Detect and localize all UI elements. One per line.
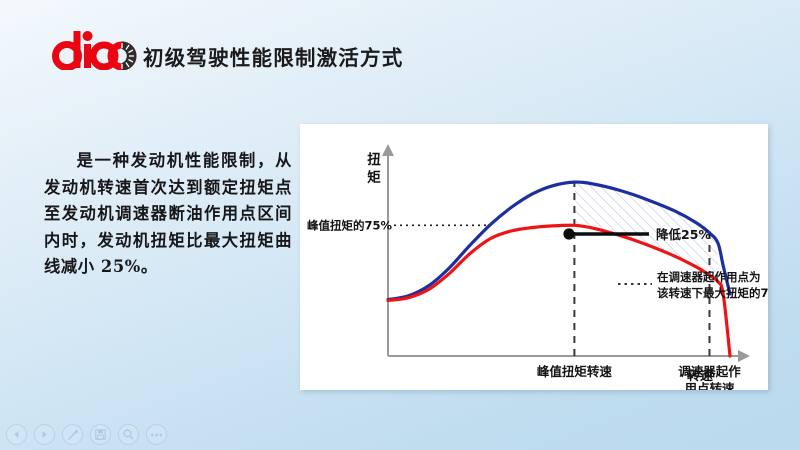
previous-slide-button[interactable] xyxy=(6,424,27,445)
governor-callout-line1: 在调速器起作用点为 xyxy=(657,270,761,284)
peak-torque-speed-label: 峰值扭矩转速 xyxy=(537,364,613,379)
governor-speed-label-line2: 用点转速 xyxy=(683,381,735,390)
triangle-left-icon xyxy=(12,430,21,439)
torque-curve-chart: 降低25% 在调速器起作用点为 该转速下最大扭矩的75% 扭 矩 转速 峰值扭矩… xyxy=(300,124,768,390)
governor-callout-line2: 该转速下最大扭矩的75% xyxy=(657,286,768,300)
reduction-callout-label: 降低25% xyxy=(656,227,711,242)
pen-tool-button[interactable] xyxy=(62,424,83,445)
page-title: 初级驾驶性能限制激活方式 xyxy=(143,41,403,71)
y-axis-label-char-2: 矩 xyxy=(367,169,381,186)
dioo-logo-icon xyxy=(52,30,138,70)
y-axis-label-char-1: 扭 xyxy=(367,151,381,168)
next-slide-button[interactable] xyxy=(34,424,55,445)
magnifier-icon xyxy=(123,429,134,440)
ellipsis-icon xyxy=(150,432,163,438)
save-button[interactable] xyxy=(90,424,111,445)
brand-logo xyxy=(52,30,138,70)
triangle-right-icon xyxy=(40,430,49,439)
peak-torque-75-label: 峰值扭矩的75% xyxy=(307,218,393,232)
floppy-disk-icon xyxy=(95,429,106,440)
governor-speed-label-line1: 调速器起作 xyxy=(678,364,741,379)
description-paragraph: 是一种发动机性能限制，从发动机转速首次达到额定扭矩点至发动机调速器断油作用点区间… xyxy=(44,148,292,281)
slide-toolbar[interactable] xyxy=(6,424,167,445)
zoom-button[interactable] xyxy=(118,424,139,445)
menu-button[interactable] xyxy=(146,424,167,445)
pen-icon xyxy=(67,429,79,441)
slide-header: 初级驾驶性能限制激活方式 xyxy=(0,0,800,86)
